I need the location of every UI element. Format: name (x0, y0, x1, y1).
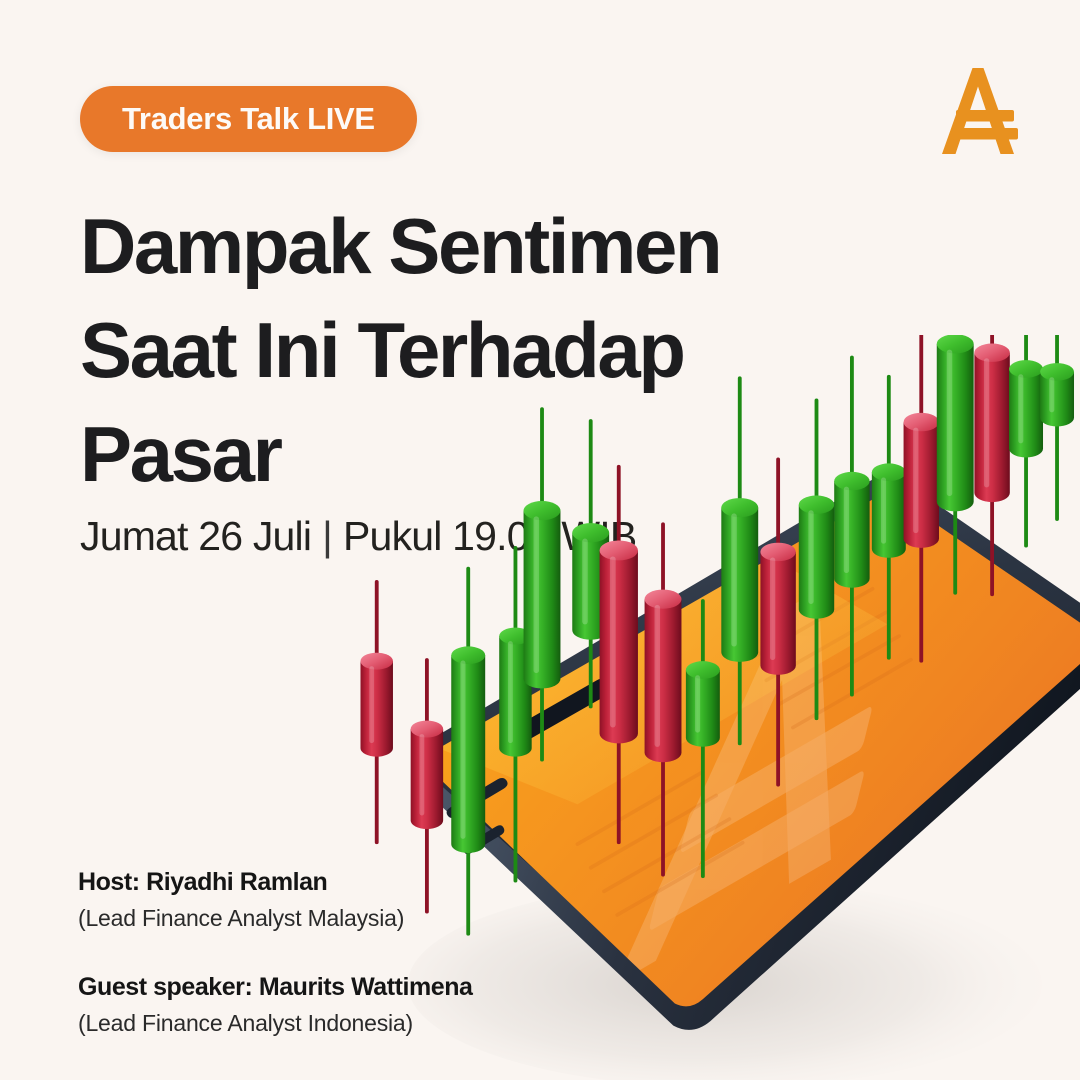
live-badge-label: Traders Talk LIVE (122, 101, 375, 137)
candlestick (1040, 335, 1074, 521)
candle-top-cap (1009, 360, 1043, 378)
candle-top-cap (686, 661, 720, 679)
candle-highlight (419, 734, 424, 815)
candle-highlight (1018, 374, 1023, 443)
candle-top-cap (411, 721, 443, 738)
candle-wick-lower (701, 733, 705, 878)
candle-wick-lower (850, 574, 854, 696)
candle-body (721, 508, 758, 662)
candle-body (834, 481, 869, 588)
candlestick (1009, 335, 1043, 548)
candle-wick-lower (1055, 413, 1059, 521)
candle-wick-upper (540, 407, 544, 515)
candle-body (974, 353, 1009, 502)
speaker-guest-name: Guest speaker: Maurits Wattimena (78, 971, 473, 1004)
candle-highlight (582, 539, 588, 625)
speaker-list: Host: Riyadhi Ramlan (Lead Finance Analy… (78, 866, 473, 1040)
candle-highlight (655, 605, 661, 747)
candle-wick-upper (850, 356, 854, 486)
candle-highlight (808, 510, 813, 604)
candle-highlight (947, 350, 953, 496)
brand-a-monogram-icon (928, 58, 1032, 162)
candle-highlight (369, 666, 374, 743)
candle-top-cap (937, 335, 974, 353)
candle-top-cap (799, 496, 834, 514)
candle-highlight (1049, 377, 1054, 412)
candle-wick-lower (990, 488, 994, 596)
candle-wick-lower (661, 748, 665, 876)
candlestick (360, 580, 392, 844)
speaker-guest: Guest speaker: Maurits Wattimena (Lead F… (78, 971, 473, 1040)
candle-highlight (695, 675, 700, 732)
candle-body (645, 599, 682, 762)
candle-body (760, 552, 795, 675)
candle-highlight (881, 478, 886, 544)
candle-wick-lower (953, 497, 957, 594)
candle-highlight (460, 661, 465, 839)
speaker-host-role: (Lead Finance Analyst Malaysia) (78, 902, 473, 935)
candle-wick-lower (776, 661, 780, 786)
candle-highlight (913, 428, 918, 534)
candle-highlight (731, 513, 737, 646)
event-date: Jumat 26 Juli (80, 513, 311, 559)
candle-body (451, 655, 485, 853)
candle-wick-upper (738, 376, 742, 512)
candle-wick-upper (919, 335, 923, 426)
candle-top-cap (904, 413, 939, 431)
candle-highlight (770, 557, 775, 660)
candle-top-cap (451, 646, 485, 664)
candle-body (360, 661, 392, 757)
candle-wick-lower (1024, 444, 1028, 547)
candle-top-cap (1040, 363, 1074, 381)
candle-top-cap (974, 344, 1009, 362)
candle-body (600, 550, 638, 743)
candle-wick-upper (776, 457, 780, 556)
candle-wick-lower (919, 534, 923, 662)
candle-body (1009, 369, 1043, 458)
candle-body (937, 344, 974, 511)
candle-wick-lower (887, 545, 891, 660)
candle-highlight (534, 516, 540, 673)
candle-wick-lower (375, 744, 379, 844)
candle-wick-upper (466, 567, 470, 660)
candle-highlight (508, 641, 513, 743)
candle-body (904, 422, 939, 548)
candle-top-cap (524, 501, 561, 520)
datetime-separator: | (322, 513, 332, 560)
candle-top-cap (645, 590, 682, 609)
candle-wick-upper (815, 398, 819, 509)
candle-body (524, 511, 561, 689)
speaker-host: Host: Riyadhi Ramlan (Lead Finance Analy… (78, 866, 473, 935)
candle-top-cap (834, 472, 869, 490)
candle-wick-lower (815, 605, 819, 720)
candle-body (686, 670, 720, 747)
candle-wick-lower (617, 729, 621, 844)
candle-wick-lower (738, 648, 742, 745)
live-badge[interactable]: Traders Talk LIVE (80, 86, 417, 152)
speaker-host-name: Host: Riyadhi Ramlan (78, 866, 473, 899)
candle-highlight (844, 487, 849, 573)
promo-poster: Traders Talk LIVE Dampak Sentimen Saat I… (0, 0, 1080, 1080)
candle-highlight (984, 358, 989, 487)
candle-wick-lower (514, 744, 518, 883)
candle-body (872, 472, 906, 558)
headline-line-1: Dampak Sentimen (80, 194, 820, 298)
candle-body (411, 729, 443, 829)
candle-body (799, 505, 834, 619)
candle-top-cap (600, 540, 638, 560)
candle-top-cap (760, 543, 795, 561)
speaker-guest-role: (Lead Finance Analyst Indonesia) (78, 1007, 473, 1040)
candle-wick-upper (514, 546, 518, 640)
candle-top-cap (572, 523, 609, 542)
candle-top-cap (360, 653, 392, 670)
candle-top-cap (721, 498, 758, 517)
candle-top-cap (872, 463, 906, 481)
candle-wick-upper (887, 375, 891, 477)
candle-highlight (610, 556, 616, 727)
candle-wick-upper (589, 419, 593, 537)
